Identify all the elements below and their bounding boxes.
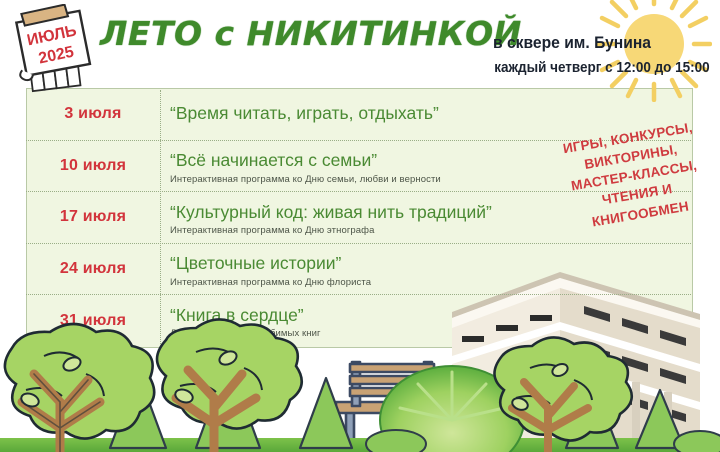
poster-root: 3 июля “Время читать, играть, отдыхать” …	[0, 0, 720, 452]
event-date: 17 июля	[26, 192, 160, 243]
location-text: в сквере им. Бунина	[493, 33, 651, 53]
table-row[interactable]: 10 июля “Всё начинается с семьи” Интерак…	[26, 140, 691, 192]
event-date: 10 июля	[26, 141, 160, 192]
event-cell: “Культурный код: живая нить традиций” Ин…	[170, 192, 687, 245]
event-subtitle: Интерактивная программа ко Дню семьи, лю…	[170, 174, 687, 185]
event-title: “Время читать, играть, отдыхать”	[170, 104, 687, 124]
event-subtitle: Интерактивная программа ко Дню этнографа	[170, 225, 687, 236]
event-title: “Всё начинается с семьи”	[170, 151, 687, 171]
poster-header: ЛЕТО с НИКИТИНКОЙ в сквере им. Бунина ка…	[0, 0, 720, 88]
event-cell: “Всё начинается с семьи” Интерактивная п…	[170, 141, 687, 194]
schedule-text: каждый четверг с 12:00 до 15:00	[495, 60, 710, 76]
page-title: ЛЕТО с НИКИТИНКОЙ	[100, 14, 522, 53]
calendar-icon: ИЮЛЬ 2025	[8, 4, 104, 96]
table-row[interactable]: 17 июля “Культурный код: живая нить трад…	[26, 191, 691, 243]
park-illustration	[0, 252, 720, 452]
table-row[interactable]: 3 июля “Время читать, играть, отдыхать”	[26, 88, 691, 140]
event-title: “Культурный код: живая нить традиций”	[170, 203, 687, 223]
